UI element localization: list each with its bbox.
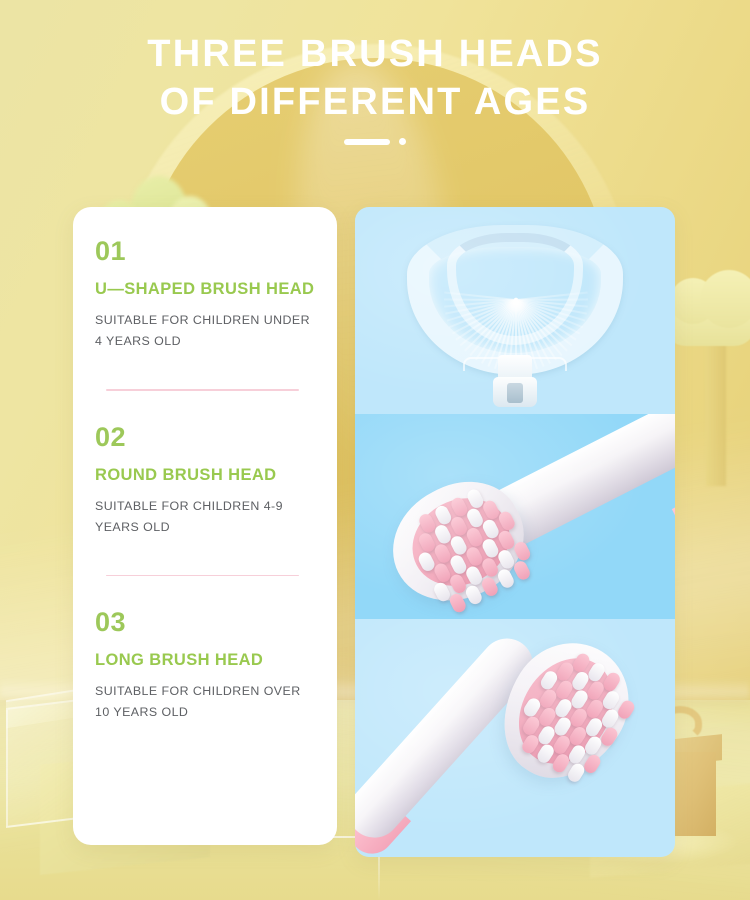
u-brush-connector-slot (507, 383, 523, 403)
title-divider (0, 138, 750, 145)
divider-dash-icon (344, 139, 390, 145)
feature-title-2: ROUND BRUSH HEAD (95, 465, 315, 485)
product-photo-round (355, 414, 675, 619)
feature-list-card: 01 U—SHAPED BRUSH HEAD SUITABLE FOR CHIL… (73, 207, 337, 845)
page-header: THREE BRUSH HEADS OF DIFFERENT AGES (0, 30, 750, 145)
spacer (95, 391, 315, 421)
brush-bristle (616, 698, 637, 721)
spacer (95, 352, 315, 389)
feature-description-3: SUITABLE FOR CHILDREN OVER 10 YEARS OLD (95, 681, 315, 723)
feature-number-2: 02 (95, 421, 315, 453)
brush-bristle (512, 559, 532, 582)
divider-dot-icon (399, 138, 406, 145)
product-photo-long (355, 619, 675, 857)
u-shaped-brush-head-illustration (407, 225, 623, 375)
round-brush-head-illustration (355, 414, 675, 619)
feature-description-1: SUITABLE FOR CHILDREN UNDER 4 YEARS OLD (95, 310, 315, 352)
spacer (95, 538, 315, 575)
feature-number-3: 03 (95, 606, 315, 638)
long-brush-head-illustration (355, 619, 675, 857)
brush-bristle (496, 567, 516, 590)
feature-item-3: 03 LONG BRUSH HEAD SUITABLE FOR CHILDREN… (95, 606, 315, 723)
product-photo-u-shaped (355, 207, 675, 414)
product-photo-stack (355, 207, 675, 857)
brush-bristle (512, 540, 532, 563)
feature-item-1: 01 U—SHAPED BRUSH HEAD SUITABLE FOR CHIL… (95, 235, 315, 352)
page-title-line-1: THREE BRUSH HEADS (0, 30, 750, 78)
decor-cloud-icon (664, 296, 750, 346)
feature-description-2: SUITABLE FOR CHILDREN 4-9 YEARS OLD (95, 496, 315, 538)
feature-title-3: LONG BRUSH HEAD (95, 650, 315, 670)
spacer (95, 576, 315, 606)
decor-cloud-stem (706, 336, 726, 486)
feature-title-1: U—SHAPED BRUSH HEAD (95, 279, 315, 299)
round-brush-handle-pink (672, 455, 675, 561)
feature-number-1: 01 (95, 235, 315, 267)
feature-item-2: 02 ROUND BRUSH HEAD SUITABLE FOR CHILDRE… (95, 421, 315, 538)
page-title-line-2: OF DIFFERENT AGES (0, 78, 750, 126)
